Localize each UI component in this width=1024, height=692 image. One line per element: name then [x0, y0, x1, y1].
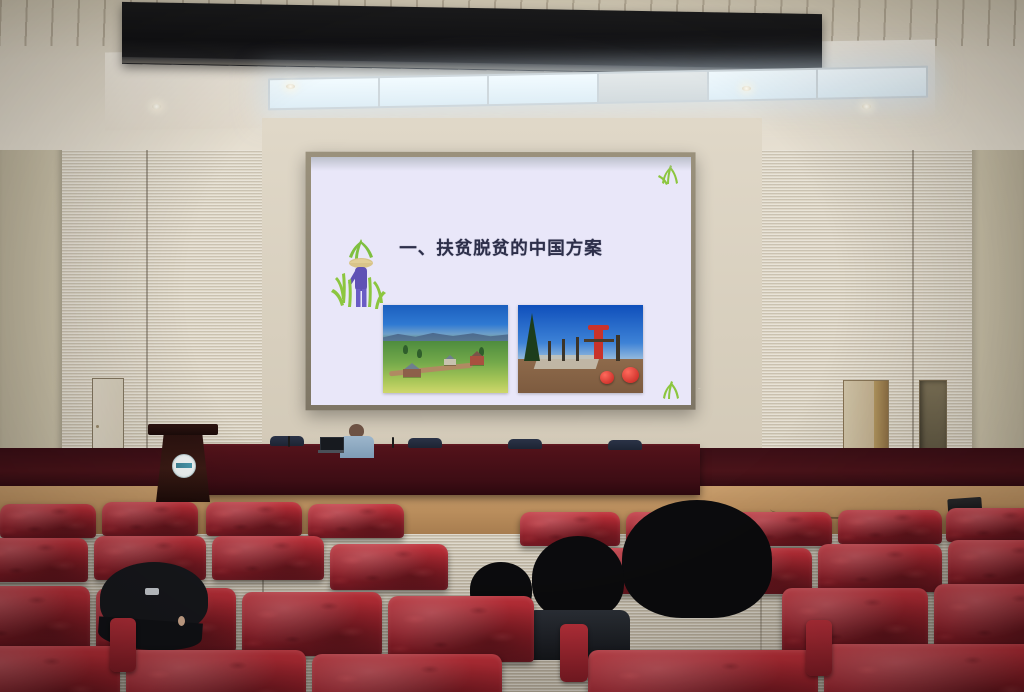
downlight: [286, 84, 295, 89]
seat[interactable]: [102, 502, 198, 536]
table-microphone: [288, 436, 290, 447]
stage-chair: [508, 439, 542, 449]
seated-presenter: [340, 424, 374, 456]
gate-beam: [584, 339, 614, 342]
farmhouse: [403, 369, 421, 377]
stage-chair: [608, 440, 642, 450]
auditorium-photo: 一、扶贫脱贫的中国方案: [0, 0, 1024, 692]
lectern-top: [148, 424, 218, 435]
cap-clip: [145, 588, 159, 595]
seat[interactable]: [824, 644, 1024, 692]
light-panel: [489, 74, 597, 104]
seat[interactable]: [934, 584, 1024, 650]
wall-niche: [919, 380, 947, 458]
emblem-band: [176, 463, 192, 468]
laptop-base: [318, 450, 344, 453]
downlight: [152, 104, 161, 109]
seat[interactable]: [838, 510, 942, 544]
red-lantern: [622, 367, 639, 383]
village-gate-photo: [518, 305, 643, 393]
seat[interactable]: [946, 508, 1024, 542]
tree: [403, 345, 408, 354]
ear: [178, 616, 185, 626]
light-panel: [599, 72, 707, 102]
armrest: [560, 624, 588, 682]
hair: [622, 500, 772, 618]
gate-sign: [594, 329, 603, 359]
roadside-post: [576, 337, 579, 361]
presenter-laptop: [318, 437, 344, 453]
hair: [532, 536, 624, 620]
seat[interactable]: [388, 596, 534, 662]
audience-seating: [0, 500, 1024, 692]
road: [534, 355, 601, 369]
seat[interactable]: [308, 504, 404, 538]
seat[interactable]: [0, 538, 88, 582]
seat[interactable]: [206, 502, 302, 536]
seat[interactable]: [818, 544, 942, 592]
downlight: [862, 104, 871, 109]
gate-sign-top: [588, 325, 609, 330]
roadside-post: [562, 339, 565, 361]
seat[interactable]: [948, 540, 1024, 588]
person-dark-hair-center: [622, 500, 772, 620]
grass-tuft-top-right-icon: [657, 163, 683, 185]
farmhouse: [470, 356, 484, 365]
farmhouse: [444, 359, 456, 365]
light-panel: [270, 78, 378, 108]
tree: [417, 349, 422, 358]
door-knob: [96, 425, 99, 428]
mountain-village-photo: [383, 305, 508, 393]
seat[interactable]: [312, 654, 502, 692]
roadside-post: [616, 335, 620, 361]
institution-emblem: [172, 454, 196, 478]
light-panel: [380, 76, 488, 106]
seat[interactable]: [0, 586, 90, 650]
slide-photo-row: [383, 305, 651, 393]
seat[interactable]: [126, 650, 306, 692]
table-microphone: [392, 437, 394, 448]
lectern: [152, 424, 214, 502]
grass-tuft-bottom-right-icon: [659, 380, 683, 400]
head-table: [200, 447, 700, 495]
downlight: [742, 86, 751, 91]
presenter-shirt: [340, 436, 374, 458]
seat[interactable]: [588, 650, 818, 692]
seat[interactable]: [212, 536, 324, 580]
roadside-post: [548, 341, 551, 361]
stage-chair: [408, 438, 442, 448]
armrest: [806, 620, 832, 676]
light-panel: [709, 70, 817, 100]
light-panel: [818, 68, 926, 98]
projection-screen: 一、扶贫脱贫的中国方案: [311, 157, 691, 405]
seat[interactable]: [242, 592, 382, 656]
red-lantern: [600, 371, 614, 384]
armrest: [110, 618, 136, 672]
slide-title: 一、扶贫脱贫的中国方案: [311, 235, 691, 260]
seat[interactable]: [0, 504, 96, 538]
seat[interactable]: [330, 544, 448, 590]
presentation-slide: 一、扶贫脱贫的中国方案: [311, 157, 691, 405]
person-dark-hair-right: [532, 536, 624, 622]
stage-chair: [270, 436, 304, 446]
seat[interactable]: [0, 646, 120, 692]
